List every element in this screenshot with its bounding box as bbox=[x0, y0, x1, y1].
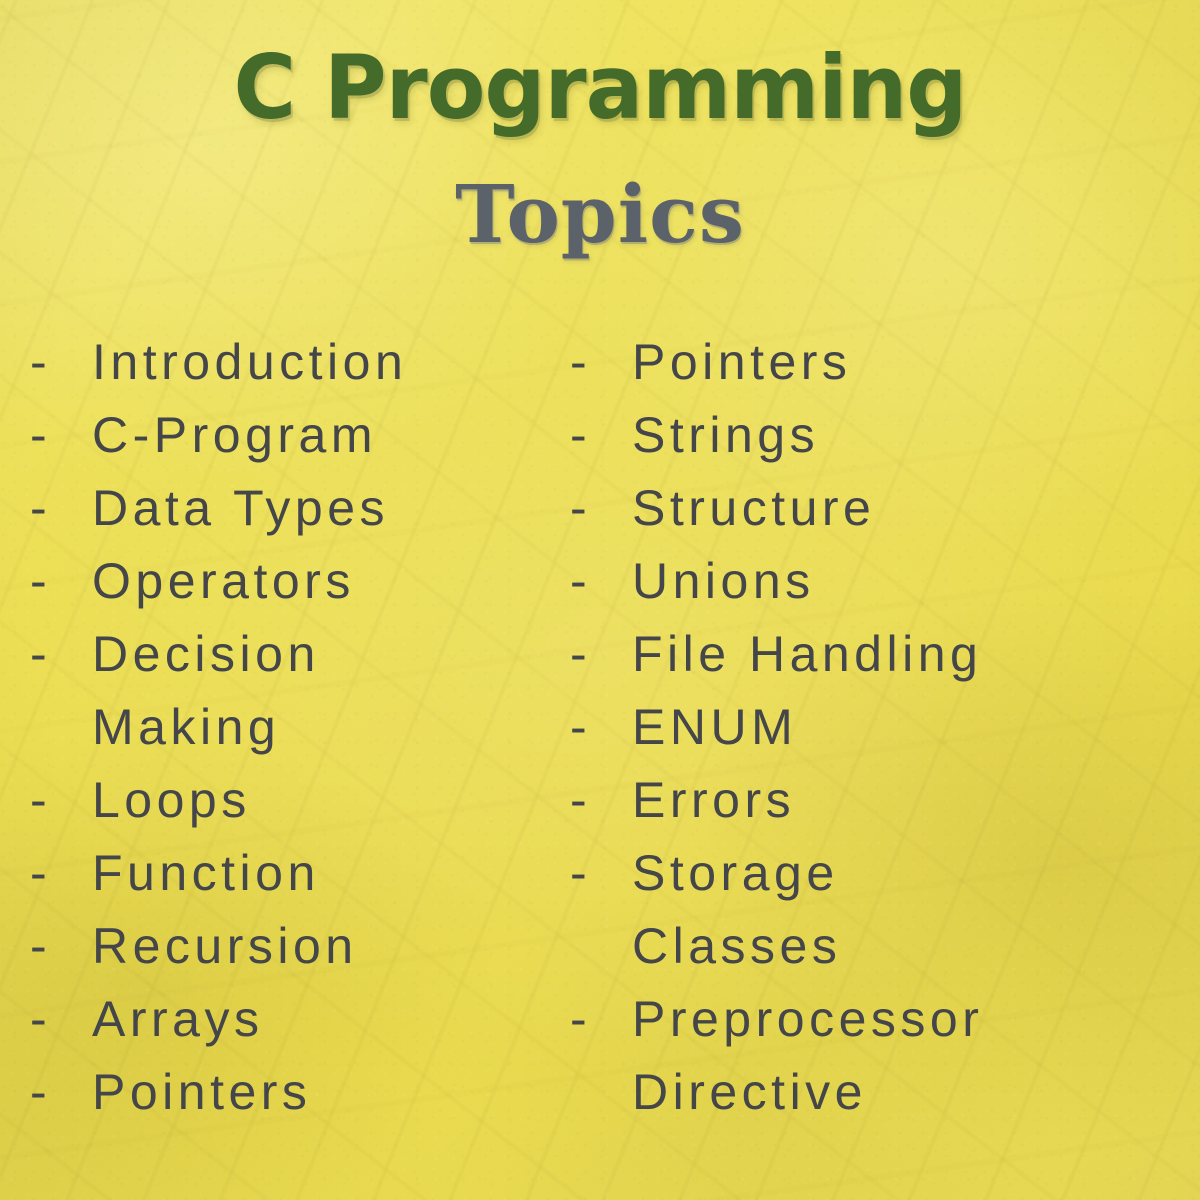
topic-label: Decision bbox=[92, 618, 320, 691]
topic-dash-icon: - bbox=[30, 910, 92, 983]
poster-title: C Programming bbox=[18, 44, 1182, 132]
topic-label: Function bbox=[92, 837, 320, 910]
topic-label: Operators bbox=[92, 545, 355, 618]
topic-row[interactable]: -Loops bbox=[30, 764, 570, 837]
topic-label: Preprocessor bbox=[632, 983, 983, 1056]
topic-label: C-Program bbox=[92, 399, 377, 472]
topic-dash-icon: - bbox=[30, 399, 92, 472]
topic-row-continuation[interactable]: Making bbox=[30, 691, 570, 764]
topic-row[interactable]: -Operators bbox=[30, 545, 570, 618]
topic-dash-icon: - bbox=[570, 326, 632, 399]
topic-label: Pointers bbox=[632, 326, 851, 399]
topic-row-continuation[interactable]: Classes bbox=[570, 910, 1200, 983]
topic-label: Arrays bbox=[92, 983, 263, 1056]
topic-label: Making bbox=[92, 691, 280, 764]
topic-row[interactable]: -Storage bbox=[570, 837, 1200, 910]
topic-row[interactable]: -Pointers bbox=[30, 1056, 570, 1129]
topic-dash-icon: - bbox=[30, 1056, 92, 1129]
topic-dash-icon: - bbox=[30, 472, 92, 545]
topic-label: Structure bbox=[632, 472, 875, 545]
topic-dash-icon: - bbox=[30, 326, 92, 399]
topic-dash-icon: - bbox=[570, 691, 632, 764]
topic-row[interactable]: -Function bbox=[30, 837, 570, 910]
topic-dash-icon: - bbox=[570, 837, 632, 910]
poster-content: C Programming Topics -Introduction-C-Pro… bbox=[0, 0, 1200, 1200]
topic-row[interactable]: -Decision bbox=[30, 618, 570, 691]
topic-label: Data Types bbox=[92, 472, 389, 545]
topic-label: Introduction bbox=[92, 326, 407, 399]
topic-dash-icon: - bbox=[570, 545, 632, 618]
topic-label: File Handling bbox=[632, 618, 982, 691]
topic-row[interactable]: -Pointers bbox=[570, 326, 1200, 399]
topic-dash-icon: - bbox=[570, 472, 632, 545]
topic-row[interactable]: -Preprocessor bbox=[570, 983, 1200, 1056]
topic-label: ENUM bbox=[632, 691, 797, 764]
topic-row[interactable]: -Recursion bbox=[30, 910, 570, 983]
topic-label: Strings bbox=[632, 399, 819, 472]
topic-dash-icon: - bbox=[30, 545, 92, 618]
topic-label: Storage bbox=[632, 837, 839, 910]
topic-dash-icon: - bbox=[570, 764, 632, 837]
topic-row[interactable]: -C-Program bbox=[30, 399, 570, 472]
topic-dash-icon: - bbox=[570, 983, 632, 1056]
topic-label: Pointers bbox=[92, 1056, 311, 1129]
topic-label: Loops bbox=[92, 764, 251, 837]
topic-dash-icon: - bbox=[30, 837, 92, 910]
topics-column-left: -Introduction-C-Program-Data Types-Opera… bbox=[0, 326, 570, 1129]
topic-row[interactable]: -File Handling bbox=[570, 618, 1200, 691]
topic-row[interactable]: -Introduction bbox=[30, 326, 570, 399]
topics-columns: -Introduction-C-Program-Data Types-Opera… bbox=[0, 326, 1200, 1129]
topic-row[interactable]: -Unions bbox=[570, 545, 1200, 618]
topic-row-continuation[interactable]: Directive bbox=[570, 1056, 1200, 1129]
topic-label: Recursion bbox=[92, 910, 358, 983]
topic-row[interactable]: -Arrays bbox=[30, 983, 570, 1056]
topic-row[interactable]: -Data Types bbox=[30, 472, 570, 545]
topic-row[interactable]: -Strings bbox=[570, 399, 1200, 472]
topic-label: Unions bbox=[632, 545, 815, 618]
topic-row[interactable]: -Errors bbox=[570, 764, 1200, 837]
topic-dash-icon: - bbox=[570, 399, 632, 472]
topic-dash-icon: - bbox=[30, 764, 92, 837]
topic-row[interactable]: -ENUM bbox=[570, 691, 1200, 764]
poster-subtitle: Topics bbox=[0, 174, 1200, 254]
topic-dash-icon: - bbox=[570, 618, 632, 691]
topic-dash-icon: - bbox=[30, 983, 92, 1056]
topic-label: Classes bbox=[632, 910, 841, 983]
poster-canvas: C Programming Topics -Introduction-C-Pro… bbox=[0, 0, 1200, 1200]
topics-column-right: -Pointers-Strings-Structure-Unions-File … bbox=[570, 326, 1200, 1129]
topic-row[interactable]: -Structure bbox=[570, 472, 1200, 545]
topic-label: Errors bbox=[632, 764, 795, 837]
topic-label: Directive bbox=[632, 1056, 867, 1129]
topic-dash-icon: - bbox=[30, 618, 92, 691]
